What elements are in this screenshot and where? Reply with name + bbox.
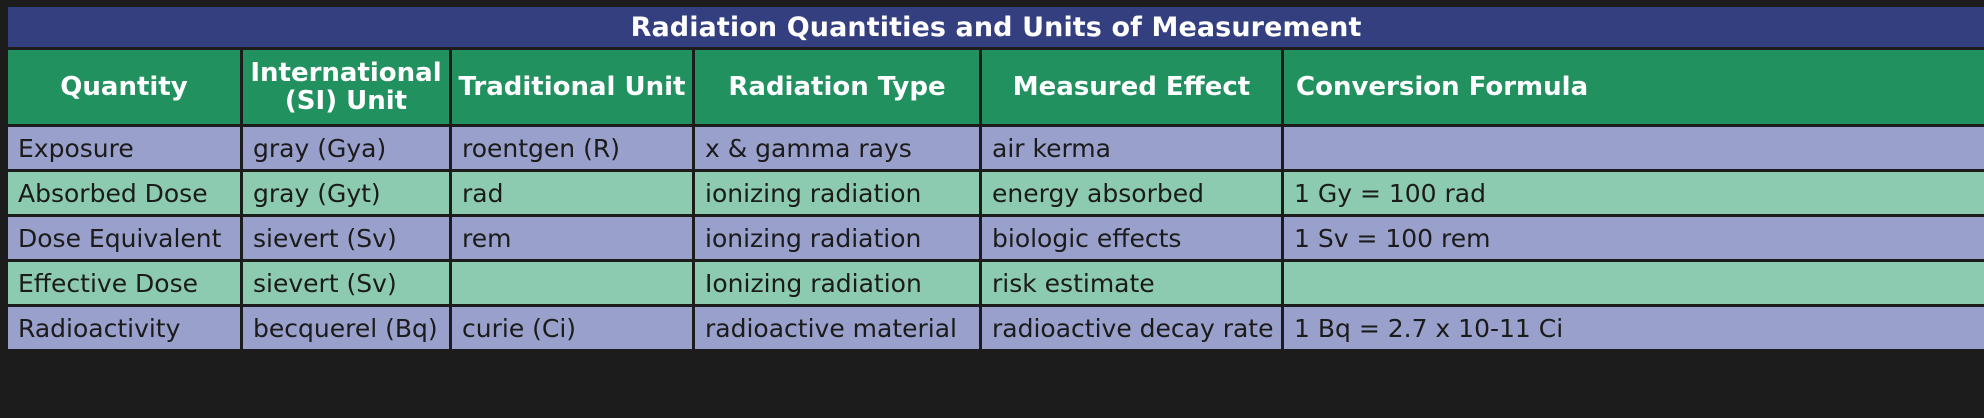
cell-measured-effect: energy absorbed (982, 172, 1281, 214)
cell-conversion-formula: 1 Bq = 2.7 x 10-11 Ci (1284, 307, 1984, 349)
column-header-traditional-unit[interactable]: Traditional Unit (452, 50, 692, 124)
cell-quantity: Absorbed Dose (8, 172, 240, 214)
cell-radiation-type: ionizing radiation (695, 172, 979, 214)
cell-conversion-formula (1284, 127, 1984, 169)
cell-radiation-type: ionizing radiation (695, 217, 979, 259)
cell-conversion-formula (1284, 262, 1984, 304)
cell-si-unit: becquerel (Bq) (243, 307, 449, 349)
cell-si-unit: sievert (Sv) (243, 262, 449, 304)
table-row: Exposure gray (Gya) roentgen (R) x & gam… (8, 127, 1984, 169)
table-header-row: Quantity International(SI) Unit Traditio… (8, 50, 1984, 124)
radiation-units-table: Radiation Quantities and Units of Measur… (5, 4, 1984, 352)
cell-traditional-unit: rad (452, 172, 692, 214)
cell-traditional-unit: curie (Ci) (452, 307, 692, 349)
table-row: Effective Dose sievert (Sv) Ionizing rad… (8, 262, 1984, 304)
cell-traditional-unit (452, 262, 692, 304)
cell-conversion-formula: 1 Gy = 100 rad (1284, 172, 1984, 214)
table-row: Dose Equivalent sievert (Sv) rem ionizin… (8, 217, 1984, 259)
cell-measured-effect: air kerma (982, 127, 1281, 169)
cell-traditional-unit: rem (452, 217, 692, 259)
table-container: Radiation Quantities and Units of Measur… (0, 0, 1984, 418)
column-header-quantity[interactable]: Quantity (8, 50, 240, 124)
cell-radiation-type: radioactive material (695, 307, 979, 349)
column-header-radiation-type[interactable]: Radiation Type (695, 50, 979, 124)
cell-quantity: Radioactivity (8, 307, 240, 349)
cell-radiation-type: x & gamma rays (695, 127, 979, 169)
cell-conversion-formula: 1 Sv = 100 rem (1284, 217, 1984, 259)
cell-measured-effect: risk estimate (982, 262, 1281, 304)
cell-measured-effect: biologic effects (982, 217, 1281, 259)
column-header-measured-effect[interactable]: Measured Effect (982, 50, 1281, 124)
cell-traditional-unit: roentgen (R) (452, 127, 692, 169)
table-title: Radiation Quantities and Units of Measur… (8, 7, 1984, 47)
cell-quantity: Exposure (8, 127, 240, 169)
column-header-line-1: International (250, 58, 441, 88)
table-title-row: Radiation Quantities and Units of Measur… (8, 7, 1984, 47)
column-header-international-si-unit[interactable]: International(SI) Unit (243, 50, 449, 124)
cell-si-unit: gray (Gyt) (243, 172, 449, 214)
cell-measured-effect: radioactive decay rate (982, 307, 1281, 349)
cell-radiation-type: Ionizing radiation (695, 262, 979, 304)
cell-si-unit: gray (Gya) (243, 127, 449, 169)
table-row: Radioactivity becquerel (Bq) curie (Ci) … (8, 307, 1984, 349)
column-header-conversion-formula[interactable]: Conversion Formula (1284, 50, 1984, 124)
cell-quantity: Dose Equivalent (8, 217, 240, 259)
table-row: Absorbed Dose gray (Gyt) rad ionizing ra… (8, 172, 1984, 214)
column-header-line-2: (SI) Unit (285, 86, 407, 116)
cell-quantity: Effective Dose (8, 262, 240, 304)
cell-si-unit: sievert (Sv) (243, 217, 449, 259)
